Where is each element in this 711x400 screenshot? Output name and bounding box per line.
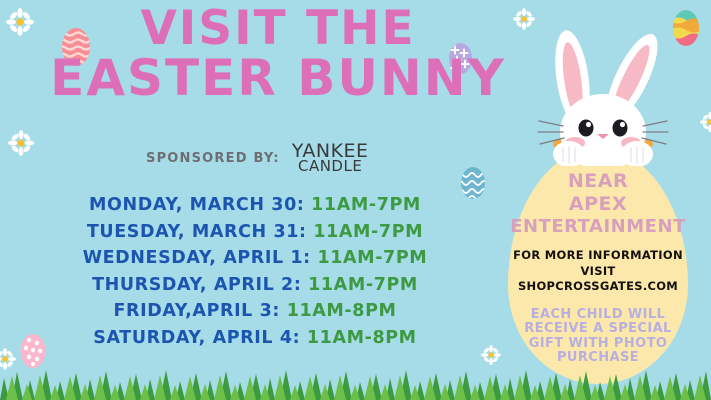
egg-note-line-1: EACH CHILD WILL bbox=[508, 308, 688, 323]
egg-note-line-3: GIFT WITH PHOTO bbox=[508, 337, 688, 352]
egg-heading-line-1: NEAR bbox=[508, 170, 688, 193]
schedule-time: 11AM-7PM bbox=[317, 248, 427, 268]
sponsor-row: SPONSORED BY: YANKEE CANDLE bbox=[146, 143, 369, 174]
schedule-time: 11AM-7PM bbox=[313, 222, 423, 242]
schedule-day: THURSDAY, APRIL 2: bbox=[92, 275, 301, 295]
schedule-day: SATURDAY, APRIL 4: bbox=[93, 328, 300, 348]
schedule-row: WEDNESDAY, APRIL 1: 11AM-7PM bbox=[20, 245, 490, 272]
sponsored-by-label: SPONSORED BY: bbox=[146, 151, 280, 166]
schedule-day: FRIDAY,APRIL 3: bbox=[113, 301, 280, 321]
egg-note-line-2: RECEIVE A SPECIAL bbox=[508, 322, 688, 337]
egg-heading-line-3: ENTERTAINMENT bbox=[508, 216, 688, 238]
schedule-time: 11AM-8PM bbox=[307, 328, 417, 348]
daisy-top-far-right-icon bbox=[700, 112, 711, 132]
schedule-time: 11AM-7PM bbox=[308, 275, 418, 295]
title-line-2: EASTER BUNNY bbox=[28, 54, 528, 103]
egg-info-line-2: VISIT SHOPCROSSGATES.COM bbox=[508, 264, 688, 295]
schedule-day: TUESDAY, MARCH 31: bbox=[87, 222, 307, 242]
title-line-1: VISIT THE bbox=[28, 6, 528, 52]
info-egg-panel: NEAR APEX ENTERTAINMENT FOR MORE INFORMA… bbox=[508, 148, 688, 384]
logo-line-candle: CANDLE bbox=[298, 160, 362, 174]
schedule-row: MONDAY, MARCH 30: 11AM-7PM bbox=[20, 192, 490, 219]
schedule-row: THURSDAY, APRIL 2: 11AM-7PM bbox=[20, 272, 490, 299]
egg-info-block: FOR MORE INFORMATION VISIT SHOPCROSSGATE… bbox=[508, 248, 688, 295]
schedule-row: TUESDAY, MARCH 31: 11AM-7PM bbox=[20, 219, 490, 246]
event-schedule-list: MONDAY, MARCH 30: 11AM-7PM TUESDAY, MARC… bbox=[20, 192, 490, 352]
egg-heading-line-2: APEX bbox=[508, 193, 688, 216]
schedule-time: 11AM-8PM bbox=[287, 301, 397, 321]
schedule-day: WEDNESDAY, APRIL 1: bbox=[83, 248, 311, 268]
schedule-time: 11AM-7PM bbox=[311, 195, 421, 215]
rainbow-egg-icon bbox=[670, 6, 702, 50]
schedule-day: MONDAY, MARCH 30: bbox=[89, 195, 304, 215]
schedule-row: SATURDAY, APRIL 4: 11AM-8PM bbox=[20, 325, 490, 352]
egg-note-block: EACH CHILD WILL RECEIVE A SPECIAL GIFT W… bbox=[508, 308, 688, 366]
easter-bunny-poster: VISIT THE EASTER BUNNY SPONSORED BY: YAN… bbox=[0, 0, 711, 400]
grass-strip bbox=[0, 364, 711, 400]
egg-info-line-1: FOR MORE INFORMATION bbox=[508, 248, 688, 264]
info-egg-content: NEAR APEX ENTERTAINMENT FOR MORE INFORMA… bbox=[508, 148, 688, 366]
yankee-candle-logo: YANKEE CANDLE bbox=[292, 143, 369, 174]
poster-title: VISIT THE EASTER BUNNY bbox=[28, 6, 528, 103]
schedule-row: FRIDAY,APRIL 3: 11AM-8PM bbox=[20, 298, 490, 325]
bunny-character-icon bbox=[533, 26, 673, 166]
daisy-mid-left-icon bbox=[8, 130, 34, 156]
